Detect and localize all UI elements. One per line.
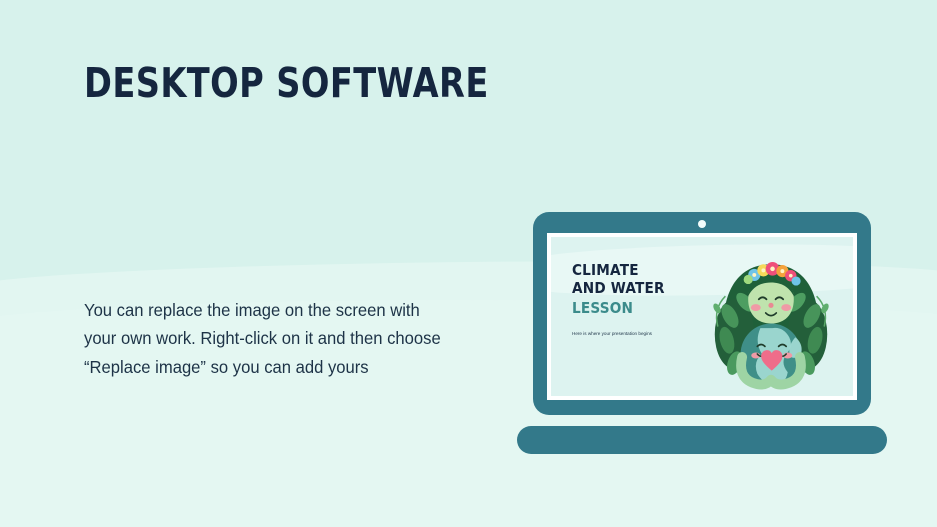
screen-subtitle: Here is where your presentation begins [572,331,707,337]
laptop-base [517,426,887,454]
mother-earth-illustration-icon [695,243,847,395]
screen-text-block: CLIMATE AND WATER LESSON Here is where y… [572,261,707,337]
body-paragraph: You can replace the image on the screen … [84,296,445,381]
webcam-icon [698,220,706,228]
laptop-screen[interactable]: CLIMATE AND WATER LESSON Here is where y… [551,237,853,396]
laptop-bezel: CLIMATE AND WATER LESSON Here is where y… [547,233,857,400]
slide-canvas: DESKTOP SOFTWARE You can replace the ima… [0,0,937,527]
page-title: DESKTOP SOFTWARE [84,61,489,106]
screen-heading-line-3: LESSON [572,299,691,317]
screen-heading-line-2: AND WATER [572,279,691,297]
laptop-lid: CLIMATE AND WATER LESSON Here is where y… [533,212,871,415]
screen-heading-line-1: CLIMATE [572,261,691,279]
